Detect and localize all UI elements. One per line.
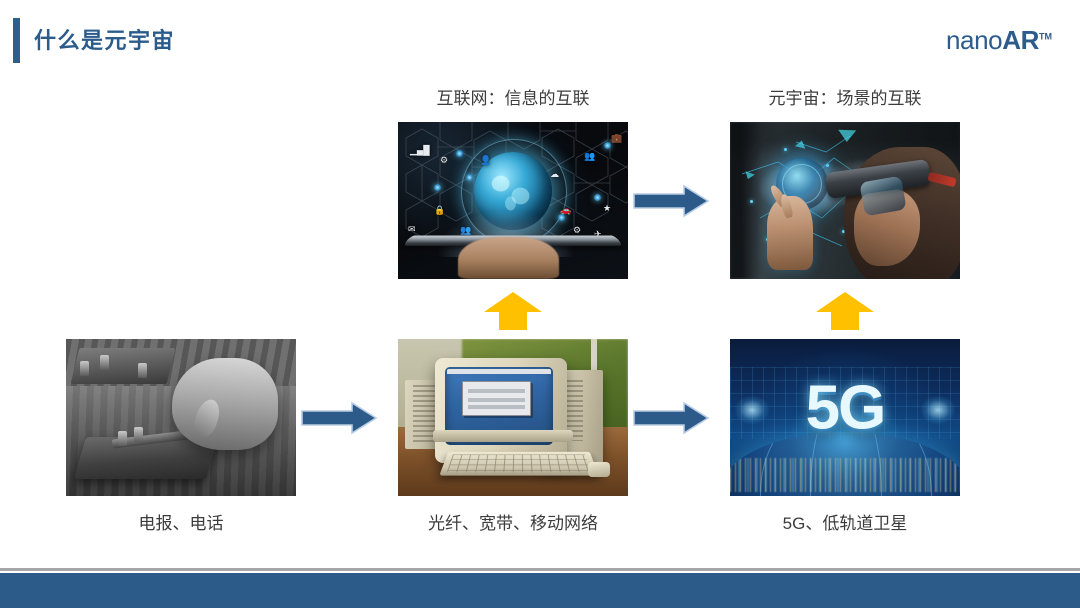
settings-icon: ⚙	[573, 226, 581, 235]
particle-dot	[826, 164, 829, 167]
person-icon: 👤	[480, 156, 491, 165]
image-computer	[398, 339, 628, 496]
image-internet: ▁▄█ ⚙ 👤 ☁ 🔒 ✉ 👥 👥 ★ 🚗 ✈ ⚙ 💼	[398, 122, 628, 279]
hand	[172, 358, 278, 450]
caption-5g: 5G、低轨道卫星	[783, 515, 908, 532]
arrow-internet-to-metaverse	[632, 183, 710, 219]
slide: 什么是元宇宙 nanoARTM 互联网：信息的互联 元宇宙：场景的互联	[0, 0, 1080, 608]
gears-icon: ⚙	[440, 156, 448, 165]
cloud-icon: ☁	[550, 170, 559, 179]
caption-telegraph: 电报、电话	[139, 515, 224, 532]
particle-dot	[750, 200, 753, 203]
ar-lens	[859, 175, 906, 216]
chart-icon: ▁▄█	[410, 146, 430, 155]
mouse	[588, 462, 610, 477]
logo-text-ar: AR	[1002, 25, 1039, 55]
logo-trademark: TM	[1039, 31, 1052, 41]
arrow-computer-to-internet	[482, 290, 544, 332]
image-metaverse	[730, 122, 960, 279]
dialog-window	[462, 381, 531, 416]
arrow-5g-to-metaverse	[814, 290, 876, 332]
footer-bar	[0, 573, 1080, 608]
image-metaverse-content	[730, 122, 960, 279]
network-node	[466, 174, 473, 181]
dialog-row	[468, 389, 524, 393]
image-internet-content: ▁▄█ ⚙ 👤 ☁ 🔒 ✉ 👥 👥 ★ 🚗 ✈ ⚙ 💼	[398, 122, 628, 279]
network-node	[594, 194, 601, 201]
title-accent-bar	[13, 18, 20, 63]
logo-text-nano: nano	[946, 25, 1002, 55]
glow-right	[921, 396, 955, 424]
keyboard	[439, 452, 598, 476]
menu-bar	[447, 369, 551, 374]
heading-internet: 互联网：信息的互联	[437, 90, 590, 107]
particle-dot	[784, 148, 787, 151]
brass-post	[138, 363, 147, 378]
image-5g: 5G	[730, 339, 960, 496]
keys	[447, 454, 591, 472]
star-icon: ★	[603, 204, 611, 213]
footer-divider	[0, 568, 1080, 571]
brass-post	[118, 431, 127, 446]
page-title: 什么是元宇宙	[34, 30, 175, 52]
image-telegraph	[66, 339, 296, 496]
image-computer-content	[398, 339, 628, 496]
dialog-row	[468, 398, 524, 402]
crt-monitor	[435, 358, 567, 463]
brass-post	[80, 361, 89, 376]
glow-left	[735, 396, 769, 424]
envelope-icon: ✉	[408, 225, 416, 234]
heading-metaverse: 元宇宙：场景的互联	[769, 90, 922, 107]
network-node	[604, 142, 611, 149]
image-5g-content: 5G	[730, 339, 960, 496]
brass-post	[100, 355, 109, 370]
brass-post	[134, 427, 143, 442]
network-node	[434, 184, 441, 191]
arrow-computer-to-5g	[632, 400, 710, 436]
fiveg-label: 5G	[806, 373, 885, 444]
people-group-icon: 👥	[584, 152, 595, 161]
monitor-stand	[433, 430, 573, 442]
dialog-row	[468, 405, 524, 409]
briefcase-icon: 💼	[611, 134, 622, 143]
hand	[458, 237, 559, 279]
network-node	[456, 150, 463, 157]
nanoar-logo: nanoARTM	[946, 27, 1052, 53]
image-telegraph-content	[66, 339, 296, 496]
arrow-telegraph-to-computer	[300, 400, 378, 436]
triangle-icon	[838, 130, 856, 143]
caption-fiber: 光纤、宽带、移动网络	[428, 515, 598, 532]
